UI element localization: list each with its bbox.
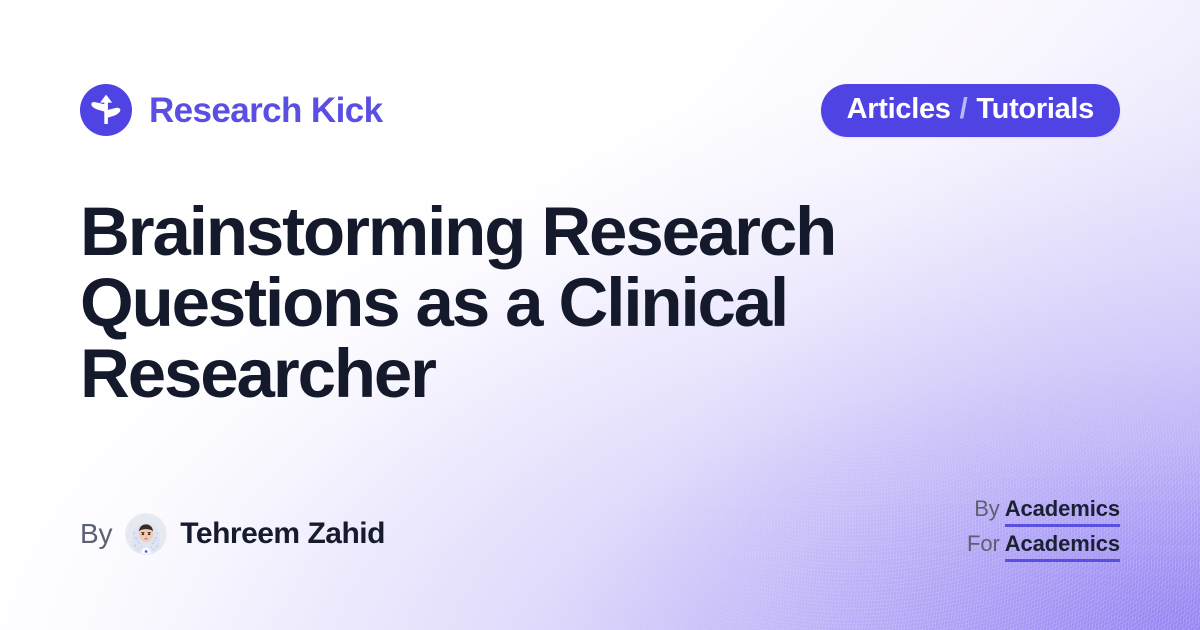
tagline-line-1-prefix: By [974,496,999,521]
tagline-line-1: ByAcademics [967,495,1120,523]
card-footer: By [80,495,1120,558]
tagline-line-2: ForAcademics [967,530,1120,558]
category-badge-secondary-label: Tutorials [976,95,1094,124]
tagline-line-1-strong: Academics [1005,496,1120,527]
tagline: ByAcademics ForAcademics [967,495,1120,558]
byline-prefix: By [80,520,112,548]
page-title: Brainstorming Research Questions as a Cl… [80,196,980,409]
author-byline: By [80,514,385,558]
category-badge[interactable]: Articles / Tutorials [821,84,1120,137]
author-name: Tehreem Zahid [180,519,385,549]
title-block: Brainstorming Research Questions as a Cl… [80,196,980,409]
category-badge-primary-label: Articles [847,95,951,124]
layout-spacer [80,409,1120,495]
card-content: Research Kick Articles / Tutorials Brain… [0,0,1200,630]
avatar [126,514,166,554]
brand-logo[interactable]: Research Kick [80,84,382,136]
signpost-icon [80,84,132,136]
tagline-line-2-prefix: For [967,531,1000,556]
og-social-card: Research Kick Articles / Tutorials Brain… [0,0,1200,630]
tagline-line-2-strong: Academics [1005,531,1120,562]
category-badge-separator: / [951,95,977,124]
brand-name: Research Kick [149,93,382,128]
card-header: Research Kick Articles / Tutorials [80,84,1120,136]
